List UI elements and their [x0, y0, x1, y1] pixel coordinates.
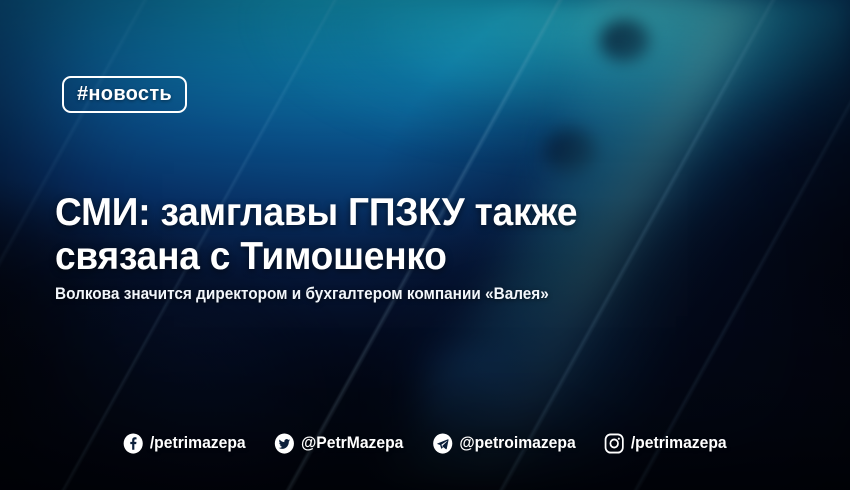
social-link-facebook[interactable]: /petrimazepa	[123, 433, 245, 454]
social-link-instagram[interactable]: /petrimazepa	[604, 433, 726, 454]
twitter-icon	[274, 433, 294, 454]
telegram-icon	[432, 433, 452, 454]
social-footer: /petrimazepa @PetrMazepa	[0, 433, 850, 454]
social-handle: /petrimazepa	[631, 434, 727, 453]
social-handle: @PetrMazepa	[301, 434, 403, 453]
social-handle: @petroimazepa	[459, 434, 575, 453]
social-link-twitter[interactable]: @PetrMazepa	[274, 433, 403, 454]
headline: СМИ: замглавы ГПЗКУ также связана с Тимо…	[55, 191, 663, 278]
category-badge[interactable]: #новость	[62, 76, 187, 113]
facebook-icon	[123, 433, 143, 454]
subtitle: Волкова значится директором и бухгалтеро…	[55, 284, 706, 305]
news-card: #новость СМИ: замглавы ГПЗКУ также связа…	[0, 0, 850, 490]
card-content: #новость СМИ: замглавы ГПЗКУ также связа…	[0, 0, 850, 490]
social-link-telegram[interactable]: @petroimazepa	[432, 433, 575, 454]
instagram-icon	[604, 433, 624, 454]
social-handle: /petrimazepa	[150, 434, 246, 453]
